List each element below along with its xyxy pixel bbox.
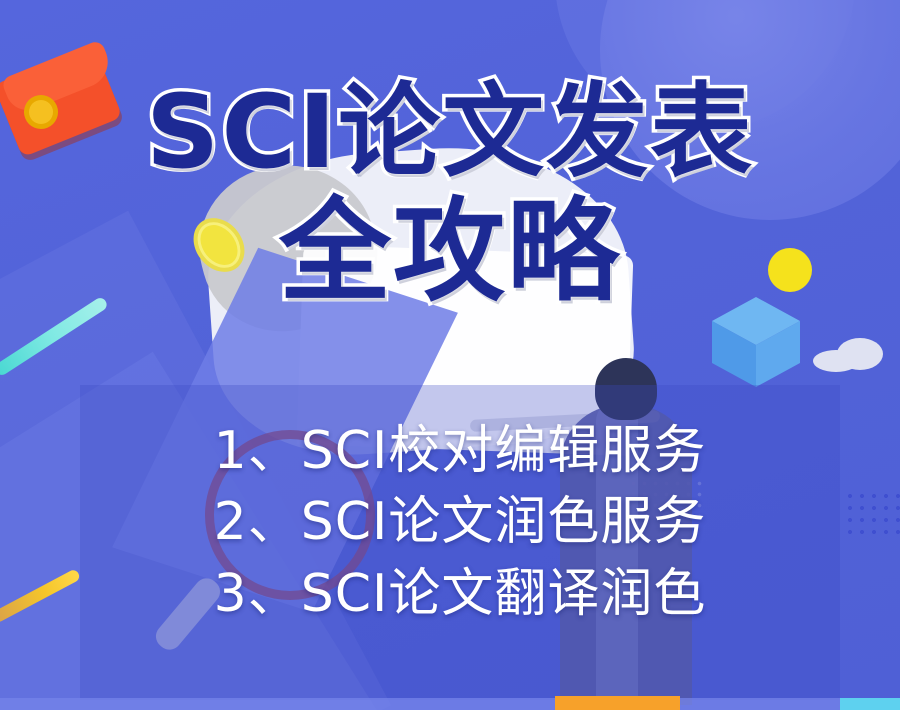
list-item: 1、SCI校对编辑服务: [214, 420, 707, 483]
service-list: 1、SCI校对编辑服务 2、SCI论文润色服务 3、SCI论文翻译润色: [80, 420, 840, 626]
bottom-strip: [0, 698, 900, 710]
dot-grid-icon: [842, 488, 900, 534]
service-label-2: SCI论文润色服务: [301, 492, 707, 552]
list-item: 2、SCI论文润色服务: [214, 491, 707, 554]
service-label-3: SCI论文翻译润色: [301, 564, 707, 624]
cube-icon: [710, 295, 802, 387]
promo-poster: SCI论文发表 全攻略 1、SCI校对编辑服务 2、SCI论文润色服务 3、SC…: [0, 0, 900, 710]
sun-icon: [768, 248, 812, 292]
service-index-3: 3、: [214, 564, 301, 624]
service-label-1: SCI校对编辑服务: [301, 421, 707, 481]
bottom-cyan-accent: [840, 698, 900, 710]
bottom-orange-accent: [555, 696, 680, 710]
cloud-icon: [813, 338, 885, 370]
service-index-1: 1、: [214, 421, 301, 481]
list-item: 3、SCI论文翻译润色: [214, 563, 707, 626]
service-index-2: 2、: [214, 492, 301, 552]
